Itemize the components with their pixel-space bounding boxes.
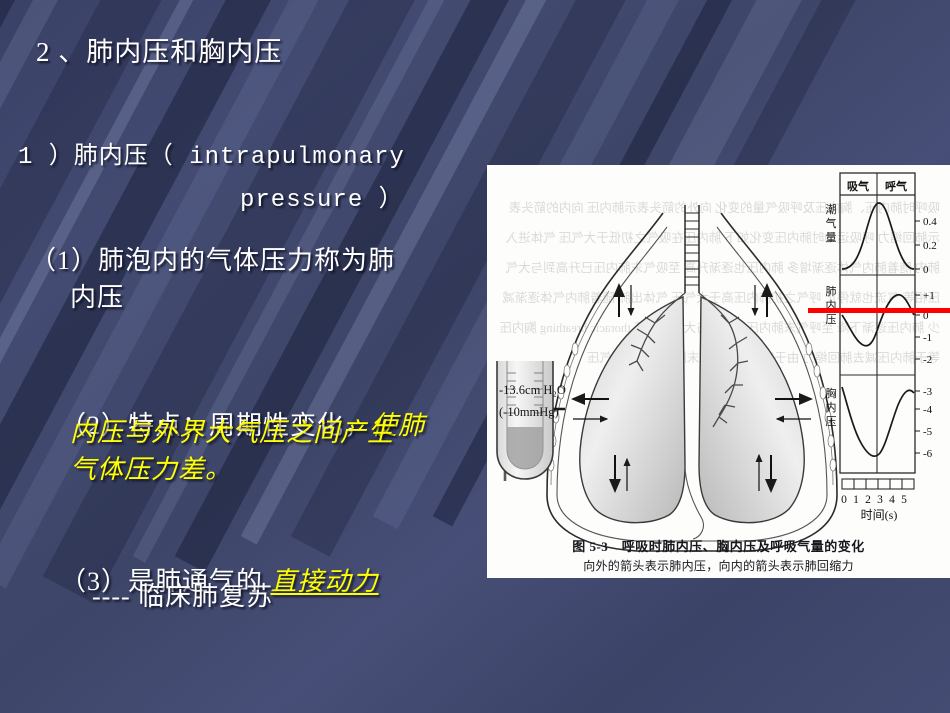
- figure-graphics: 吸气 呼气 潮 气 量 肺 内 压 胸 内 压: [487, 165, 950, 578]
- chart-header-inspiration: 吸气: [847, 179, 869, 193]
- slide-canvas: 2 、肺内压和胸内压 1 ）肺内压（ intrapulmonary pressu…: [0, 0, 950, 713]
- bullet-2-line-2: 内压: [70, 277, 124, 314]
- manometer-value-mmhg: (-10mmHg): [499, 405, 559, 420]
- bullet-1-line-1: 1 ）肺内压（ intrapulmonary: [18, 135, 405, 171]
- bullet-5: ---- 临床肺复苏: [92, 576, 273, 613]
- xtick-4: 4: [889, 494, 895, 506]
- svg-text:内: 内: [826, 400, 837, 414]
- xtick-3: 3: [877, 494, 883, 506]
- manometer-value-cmh2o: -13.6cm H₂O: [499, 383, 566, 398]
- ytick-pleu-minus5: -5: [923, 426, 933, 438]
- page-title: 2 、肺内压和胸内压: [36, 30, 282, 69]
- ytick-pleu-minus4: -4: [923, 404, 933, 416]
- figure-caption-line-2: 向外的箭头表示肺内压，向内的箭头表示肺回缩力: [487, 557, 950, 574]
- u-tube-manometer: [497, 361, 553, 479]
- bullet-1-line-2: pressure ）: [240, 178, 404, 214]
- xtick-5: 5: [901, 494, 907, 506]
- chart-header-expiration: 呼气: [885, 179, 907, 193]
- textbook-figure: 吸呼时肺内压、胸内压及呼吸气量的变化 向外的箭头表示肺内压 向内的箭头表示肺回缩…: [487, 165, 950, 578]
- ytick-pleu-minus3: -3: [923, 386, 933, 398]
- ytick-tidal-04: 0.4: [923, 216, 937, 228]
- ytick-tidal-02: 0.2: [923, 240, 937, 252]
- chart-x-axis: [842, 479, 914, 489]
- ytick-pleu-minus6: -6: [923, 448, 933, 460]
- bullet-2-line-1: （1）肺泡内的气体压力称为肺: [30, 240, 395, 277]
- curve-intrapleural-pressure: [842, 387, 914, 456]
- chart-xlabel: 时间(s): [861, 508, 898, 522]
- ytick-pulm-minus2: -2: [923, 354, 932, 366]
- svg-text:气: 气: [826, 216, 837, 230]
- bullet-3-line-2: 内压与外界大气压之间产生: [70, 412, 394, 449]
- panel-label-tidal-volume: 潮: [826, 202, 837, 216]
- svg-text:量: 量: [826, 231, 837, 244]
- svg-text:压: 压: [826, 415, 837, 428]
- ytick-pulm-minus1: -1: [923, 332, 932, 344]
- curve-tidal-volume: [842, 203, 914, 269]
- trachea: [685, 205, 699, 293]
- bullet-3-line-3: 气体压力差。: [70, 449, 232, 486]
- svg-text:压: 压: [826, 313, 837, 326]
- xtick-0: 0: [841, 494, 847, 506]
- recording-chart: 吸气 呼气 潮 气 量 肺 内 压 胸 内 压: [826, 173, 938, 522]
- panel-label-intrapulmonary: 肺: [826, 285, 837, 298]
- lung-left: [580, 297, 685, 523]
- figure-svg: 吸气 呼气 潮 气 量 肺 内 压 胸 内 压: [487, 165, 950, 578]
- curve-intrapulmonary-pressure: [842, 295, 914, 346]
- panel-label-intrapleural: 胸: [826, 386, 837, 400]
- figure-caption-line-1: 图 5-3 呼吸时肺内压、胸内压及呼吸气量的变化: [487, 536, 950, 555]
- red-highlight-line: [808, 308, 950, 313]
- ytick-pulm-plus1: +1: [923, 290, 935, 302]
- figure-caption: 图 5-3 呼吸时肺内压、胸内压及呼吸气量的变化 向外的箭头表示肺内压，向内的箭…: [487, 536, 950, 574]
- lung-right: [699, 297, 804, 523]
- bullet-4-emphasis: 直接动力: [271, 567, 379, 596]
- xtick-2: 2: [865, 494, 871, 506]
- xtick-1: 1: [853, 494, 859, 506]
- ytick-tidal-0: 0: [923, 264, 929, 276]
